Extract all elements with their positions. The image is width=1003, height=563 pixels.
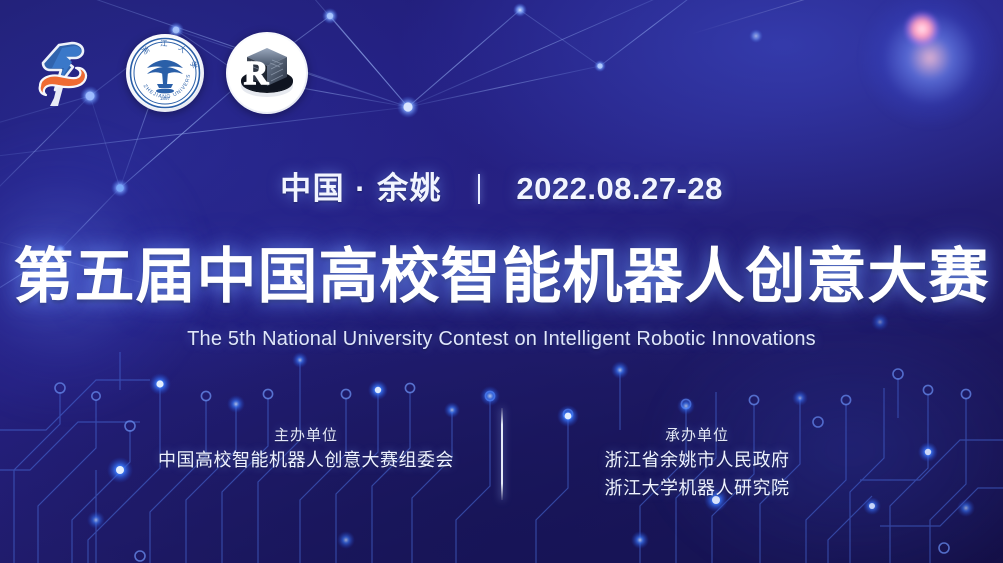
organizer-coorganizer-line-2: 浙江大学机器人研究院 [525, 475, 870, 503]
contest-lightning-logo [26, 34, 104, 112]
meta-divider [478, 174, 480, 204]
event-city: 中国 · 余姚 [280, 171, 442, 206]
light-flare-core [905, 12, 939, 46]
svg-text:1897: 1897 [160, 96, 171, 101]
page-subtitle: The 5th National University Contest on I… [0, 328, 1003, 351]
organizer-divider [501, 408, 503, 500]
organizer-coorganizer-block: 承办单位 浙江省余姚市人民政府 浙江大学机器人研究院 [525, 424, 870, 503]
event-meta-row: 中国 · 余姚 2022.08.27-28 [0, 163, 1003, 208]
organizer-section: 主办单位 中国高校智能机器人创意大赛组委会 承办单位 浙江省余姚市人民政府 浙江… [0, 424, 1003, 503]
logo-group: 浙 江 大 学 ZHEJIANG UNIVERSITY 1897 [26, 32, 308, 114]
robotics-institute-logo: R [226, 32, 308, 114]
event-date: 2022.08.27-28 [516, 171, 722, 206]
organizer-host-line-1: 中国高校智能机器人创意大赛组委会 [134, 447, 479, 475]
light-streak-upper [690, 0, 1003, 35]
organizer-coorganizer-line-1: 浙江省余姚市人民政府 [525, 447, 870, 475]
poster-canvas: 浙 江 大 学 ZHEJIANG UNIVERSITY 1897 [0, 0, 1003, 563]
organizer-host-heading: 主办单位 [134, 424, 479, 447]
page-title: 第五届中国高校智能机器人创意大赛 [0, 228, 1003, 315]
light-flare-top-right [860, 0, 1000, 128]
svg-text:R: R [244, 55, 269, 92]
organizer-coorganizer-heading: 承办单位 [525, 424, 870, 447]
organizer-host-block: 主办单位 中国高校智能机器人创意大赛组委会 [134, 424, 479, 475]
zhejiang-university-logo: 浙 江 大 学 ZHEJIANG UNIVERSITY 1897 [126, 34, 204, 112]
